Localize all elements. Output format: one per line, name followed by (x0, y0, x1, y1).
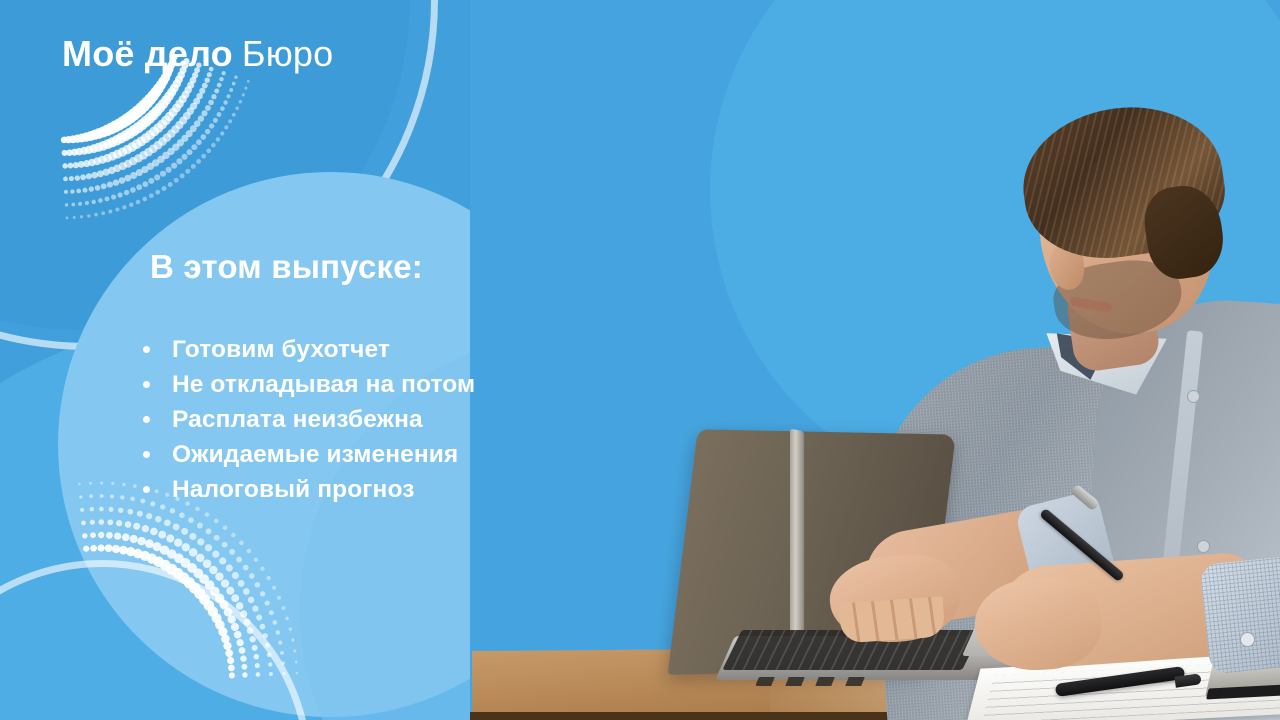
list-item-label: Готовим бухотчет (172, 336, 390, 364)
shirt-button (1187, 390, 1200, 403)
list-item: Не откладывая на потом (143, 367, 475, 402)
shirt-cuff-button (1240, 632, 1255, 647)
bullet-dot-icon (143, 346, 150, 353)
list-item-label: Налоговый прогноз (172, 476, 414, 504)
brand-name-light: Бюро (242, 36, 333, 72)
shirt-button (1197, 540, 1210, 553)
person-left-fingers (839, 596, 946, 643)
laptop-screen-edge (790, 429, 804, 664)
brand-logo[interactable]: Моё дело Бюро (62, 36, 333, 72)
hero-photo: ✕ (470, 0, 1280, 720)
bullet-dot-icon (143, 381, 150, 388)
laptop-ports (755, 677, 867, 686)
list-item: Ожидаемые изменения (143, 437, 475, 472)
page-title: В этом выпуске: (150, 248, 423, 286)
bullet-dot-icon (143, 451, 150, 458)
issue-topics-list: Готовим бухотчет Не откладывая на потом … (143, 332, 475, 507)
list-item: Расплата неизбежна (143, 402, 475, 437)
brand-name-strong: Моё дело (62, 36, 233, 72)
list-item-label: Расплата неизбежна (172, 406, 423, 434)
bullet-dot-icon (143, 486, 150, 493)
list-item: Готовим бухотчет (143, 332, 475, 367)
list-item-label: Ожидаемые изменения (172, 441, 458, 469)
list-item: Налоговый прогноз (143, 472, 475, 507)
shirt-cuff-right-texture (1200, 555, 1280, 674)
list-item-label: Не откладывая на потом (172, 371, 475, 399)
slide-root: ✕ (0, 0, 1280, 720)
bullet-dot-icon (143, 416, 150, 423)
